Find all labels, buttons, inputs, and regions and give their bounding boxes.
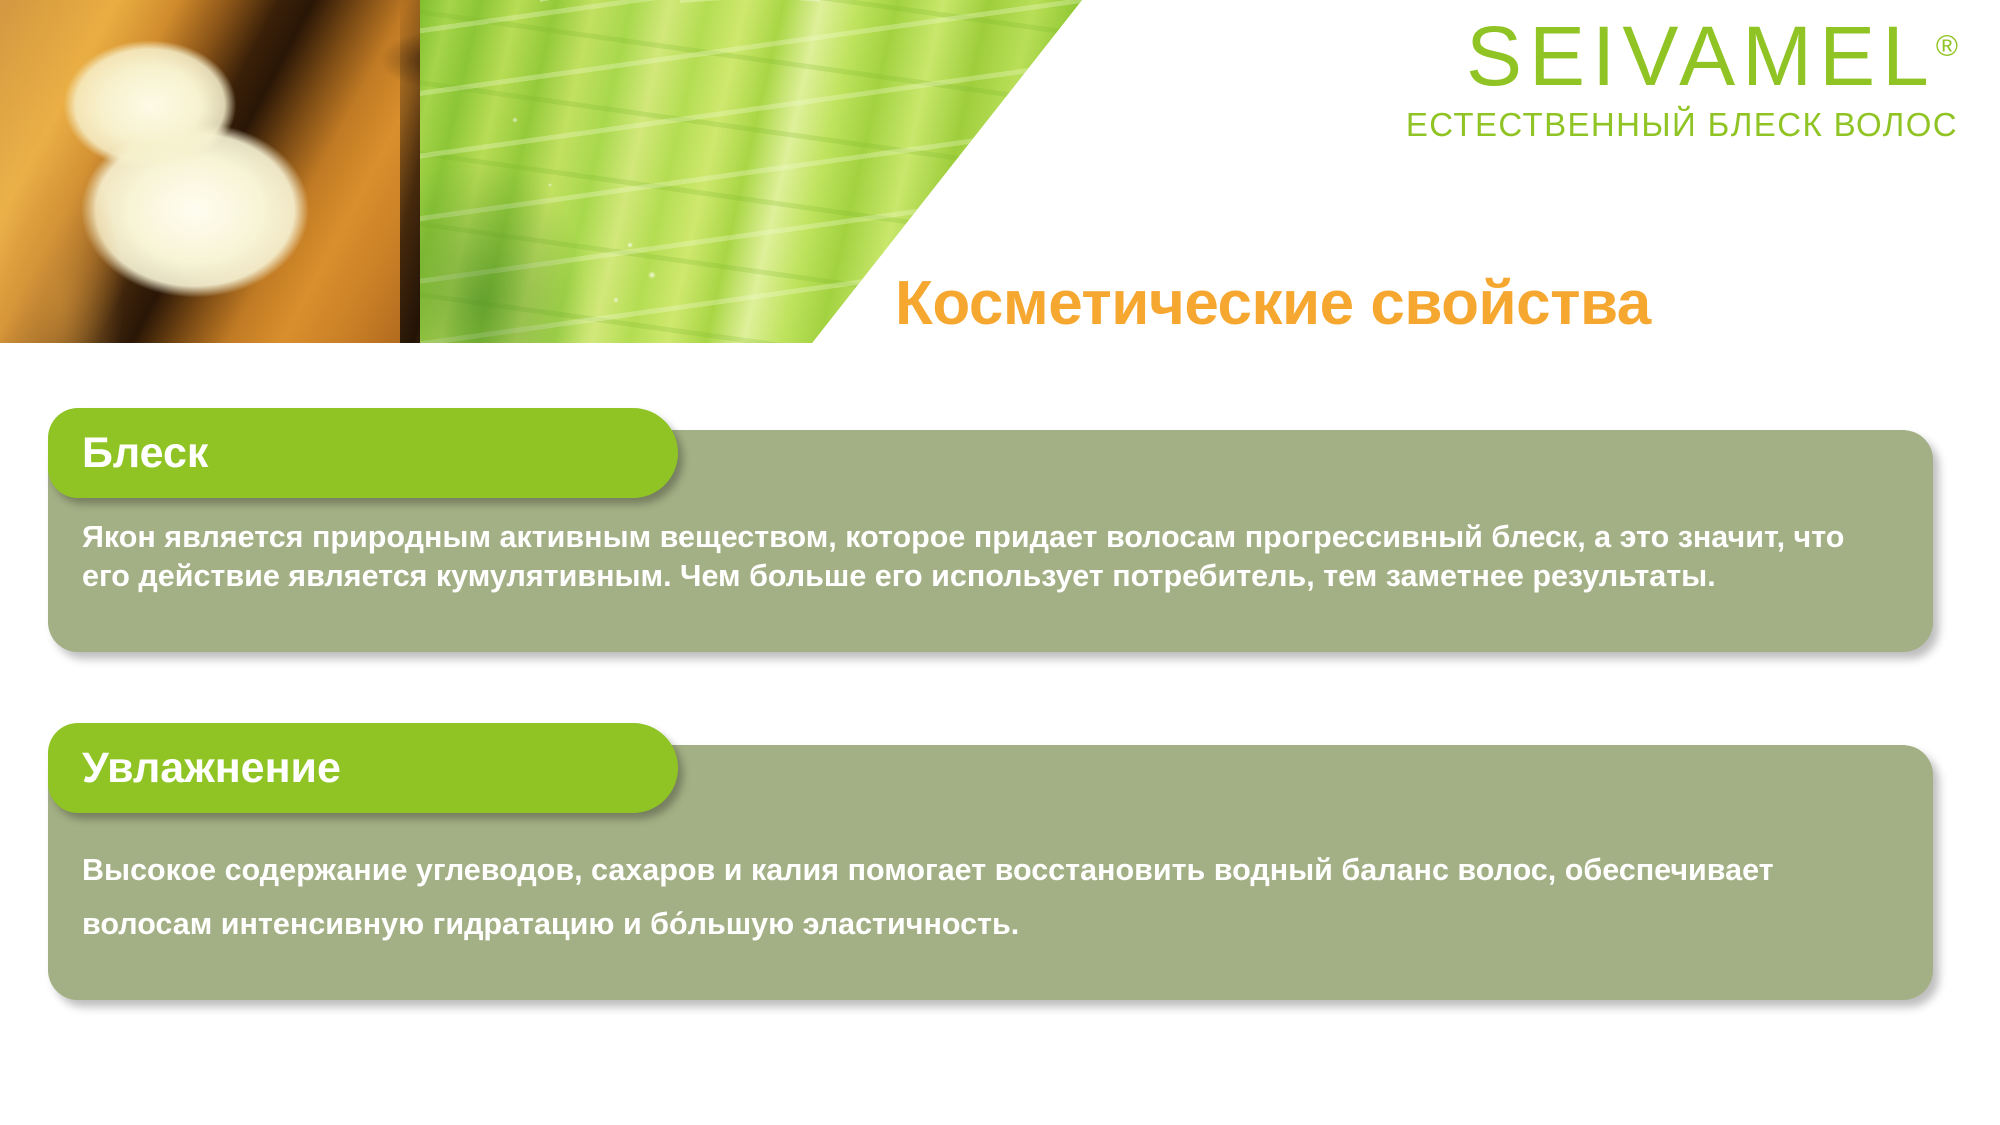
card-body-text: Якон является природным активным веществ… [82,518,1887,596]
card-header-pill-uvlazhnenie: Увлажнение [48,723,678,813]
page-title: Косметические свойства [895,268,1651,339]
slide-root: SEIVAMEL® ЕСТЕСТВЕННЫЙ БЛЕСК ВОЛОС Косме… [0,0,2000,1125]
property-card-uvlazhnenie: Увлажнение Высокое содержание углеводов,… [48,745,1933,1000]
card-header-pill-blesk: Блеск [48,408,678,498]
brand-logo: SEIVAMEL® ЕСТЕСТВЕННЫЙ БЛЕСК ВОЛОС [1406,14,1958,141]
property-card-blesk: Блеск Якон является природным активным в… [48,430,1933,652]
card-header-label: Увлажнение [82,744,341,793]
card-header-label: Блеск [82,429,208,478]
card-body-text: Высокое содержание углеводов, сахаров и … [82,843,1887,952]
logo-wordmark-text: SEIVAMEL [1466,9,1936,103]
logo-tagline: ЕСТЕСТВЕННЫЙ БЛЕСК ВОЛОС [1406,108,1958,141]
registered-trademark-icon: ® [1936,30,1958,63]
logo-wordmark: SEIVAMEL® [1406,14,1958,98]
